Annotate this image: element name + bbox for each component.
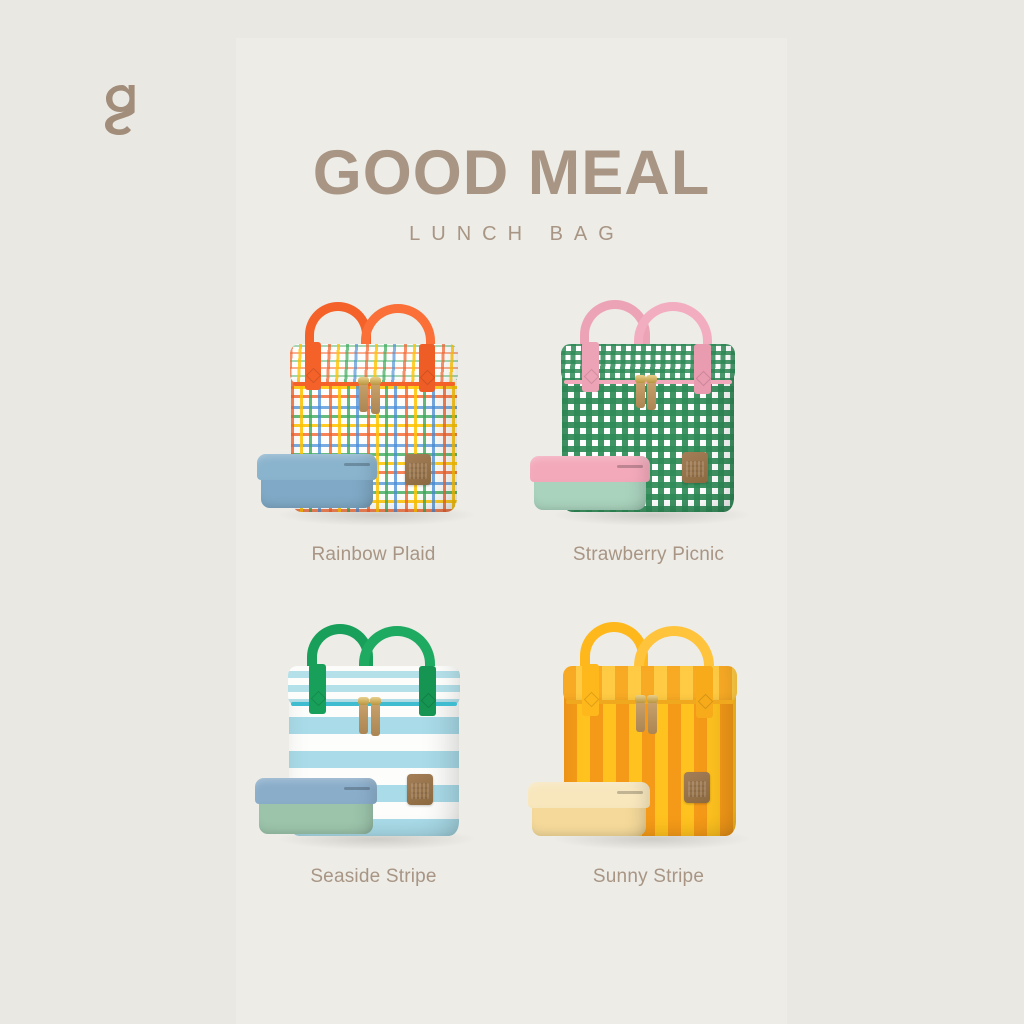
zipper-pull-1[interactable]: [636, 702, 645, 732]
product-card-rainbow-plaid[interactable]: Rainbow Plaid: [236, 292, 511, 566]
zipper-pull-1[interactable]: [359, 704, 368, 734]
tag-emboss: [411, 783, 429, 799]
tag-emboss: [409, 463, 427, 479]
lid-slot: [617, 791, 643, 794]
lid-slot: [617, 465, 643, 468]
food-container-sunny-stripe: [528, 782, 650, 836]
strap-left: [582, 342, 599, 392]
container-lid: [528, 782, 650, 808]
food-container-rainbow-plaid: [257, 454, 377, 508]
container-lid: [257, 454, 377, 480]
brand-logo-icon: [86, 72, 146, 142]
zipper-pull-2[interactable]: [647, 382, 656, 410]
zipper-pull-1[interactable]: [636, 382, 645, 408]
product-grid: Rainbow Plaid: [236, 292, 787, 888]
strap-left: [582, 664, 599, 716]
strap-left: [305, 342, 321, 390]
product-name: Seaside Stripe: [310, 866, 436, 888]
product-card-sunny-stripe[interactable]: Sunny Stripe: [511, 616, 786, 888]
tag-emboss: [688, 781, 706, 797]
page-subtitle: LUNCH BAG: [236, 223, 787, 246]
leather-logo-tag: [405, 454, 431, 485]
leather-logo-tag: [407, 774, 433, 805]
container-lid: [530, 456, 650, 482]
product-row-1: Rainbow Plaid: [236, 292, 787, 566]
strap-right: [696, 666, 713, 718]
product-name: Rainbow Plaid: [311, 544, 435, 566]
strap-right: [419, 666, 436, 716]
zipper-pull-1[interactable]: [359, 384, 368, 412]
zipper-pull-2[interactable]: [648, 702, 657, 734]
product-card-strawberry-picnic[interactable]: Strawberry Picnic: [511, 292, 786, 566]
strap-right: [694, 344, 711, 394]
title-block: GOOD MEAL LUNCH BAG: [236, 140, 787, 246]
food-container-seaside-stripe: [255, 778, 377, 834]
food-container-strawberry-picnic: [530, 456, 650, 510]
leather-logo-tag: [684, 772, 710, 803]
leather-logo-tag: [682, 452, 708, 483]
product-image-rainbow-plaid: [249, 292, 499, 538]
lid-slot: [344, 787, 370, 790]
zipper-pull-2[interactable]: [371, 704, 380, 736]
product-name: Strawberry Picnic: [573, 544, 724, 566]
product-image-seaside-stripe: [249, 616, 499, 862]
product-card-seaside-stripe[interactable]: Seaside Stripe: [236, 616, 511, 888]
product-image-sunny-stripe: [524, 616, 774, 862]
strap-left: [309, 664, 326, 714]
zipper-pull-2[interactable]: [371, 384, 380, 414]
product-name: Sunny Stripe: [593, 866, 704, 888]
page-title: GOOD MEAL: [236, 140, 787, 206]
container-lid: [255, 778, 377, 804]
lid-slot: [344, 463, 370, 466]
product-row-2: Seaside Stripe: [236, 616, 787, 888]
strap-right: [419, 344, 435, 392]
tag-emboss: [686, 461, 704, 477]
product-image-strawberry-picnic: [524, 292, 774, 538]
